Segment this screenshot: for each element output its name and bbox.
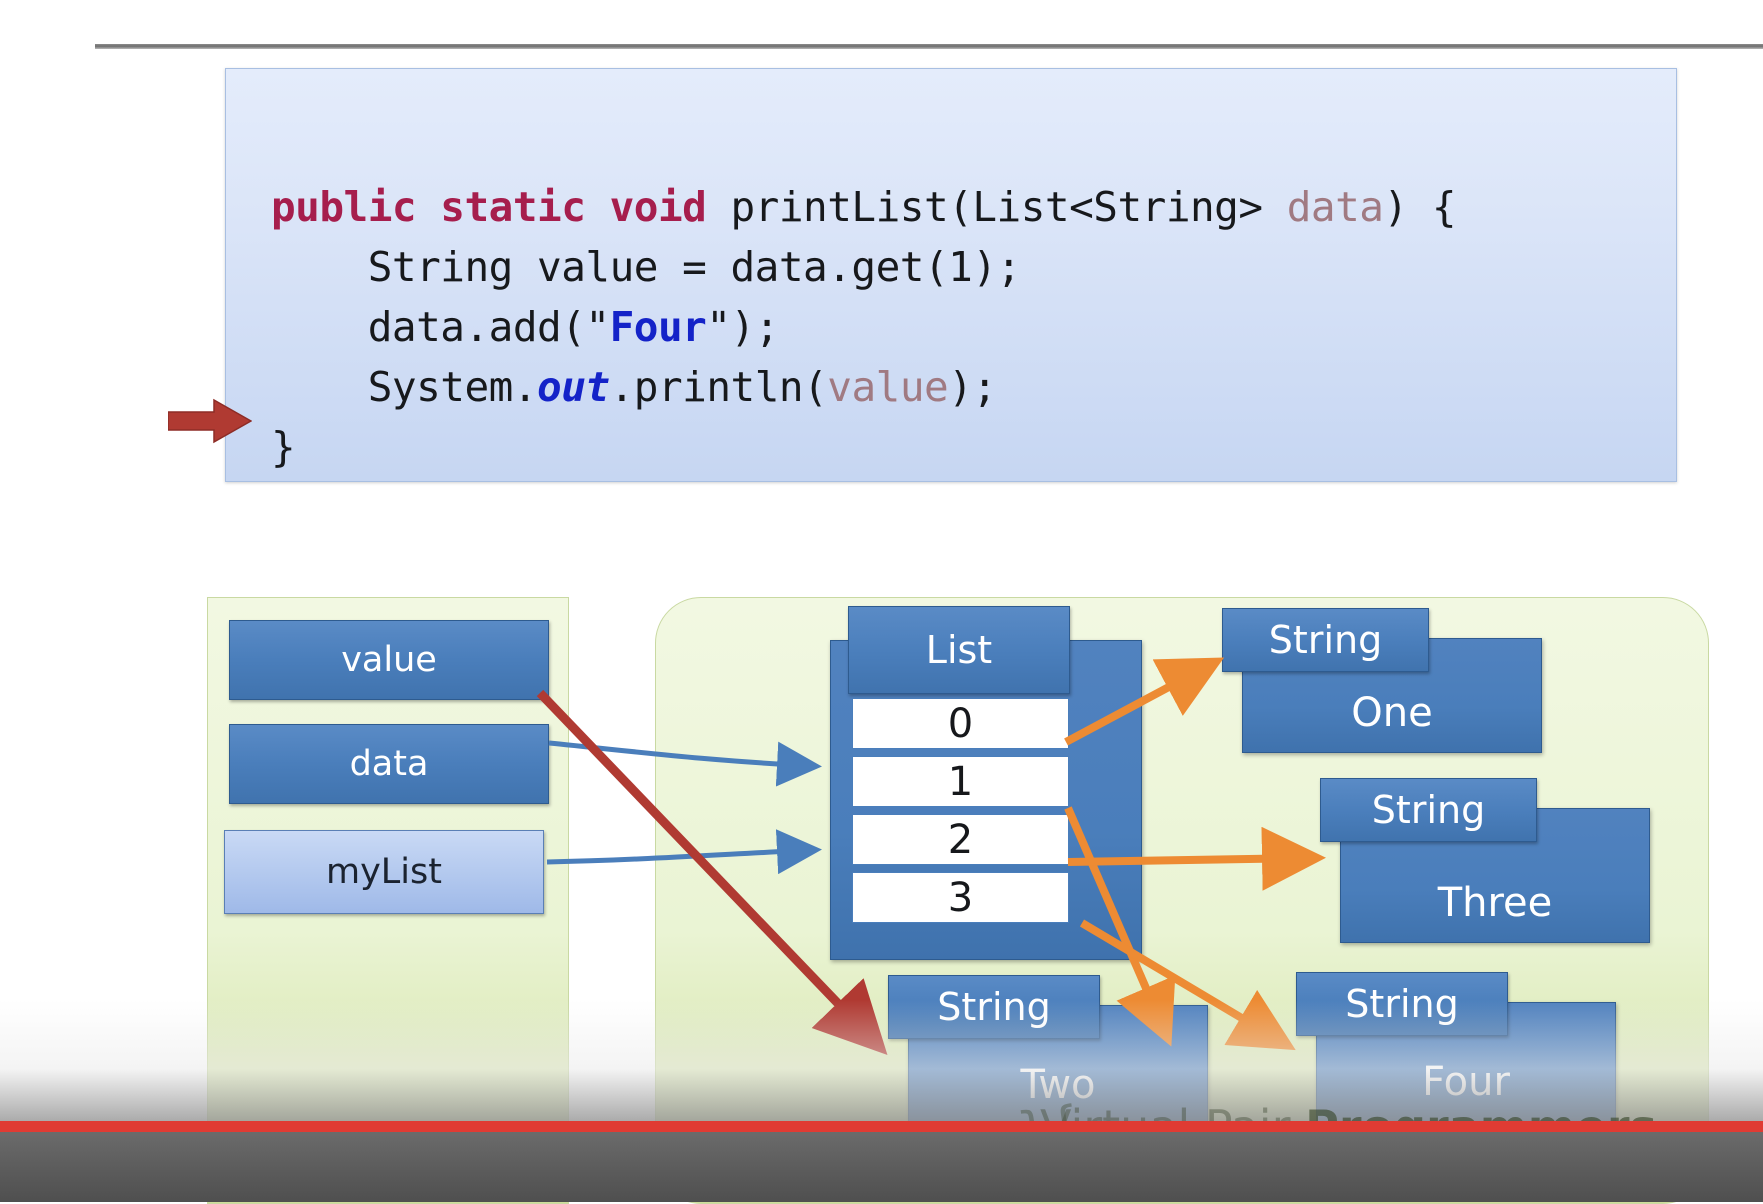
list-object-type-label: List [848,606,1070,694]
code-token: Four [610,303,707,351]
code-listing: public static void printList(List<String… [271,177,1456,477]
execution-pointer-arrow-icon [168,398,252,444]
stack-frame-data[interactable]: data [229,724,549,804]
code-token: ) { [1383,183,1456,231]
heap-object-list[interactable]: List 0 1 2 3 [830,606,1140,958]
code-panel: public static void printList(List<String… [225,68,1677,482]
code-line-3: System.out.println(value); [271,357,1456,417]
list-slot-1-index: 1 [948,759,973,805]
code-token: System. [271,363,537,411]
stack-frame-data-label: data [350,744,429,784]
list-slot-2-index: 2 [948,817,973,863]
code-token: "); [706,303,779,351]
string-four-type-label: String [1296,972,1508,1036]
string-three-value-text: Three [1438,880,1553,926]
string-three-type-text: String [1372,788,1485,832]
string-one-type-label: String [1222,608,1429,672]
stack-frame-value-label: value [341,640,437,680]
code-token: data [1287,183,1384,231]
code-token: String value = data.get(1); [271,243,1021,291]
string-one-type-text: String [1269,618,1382,662]
list-slot-0-index: 0 [948,701,973,747]
list-slot-0[interactable]: 0 [852,698,1069,749]
video-player-controls-bar[interactable] [0,1132,1763,1202]
code-token: printList(List<String> [731,183,1287,231]
video-progress-bar[interactable] [0,1121,1763,1132]
heap-object-string-one[interactable]: One String [1222,608,1542,753]
list-slot-1[interactable]: 1 [852,756,1069,807]
code-token: public static void [271,183,731,231]
list-slot-3[interactable]: 3 [852,872,1069,923]
code-line-4: } [271,417,1456,477]
string-two-type-text: String [937,985,1050,1029]
list-slot-3-index: 3 [948,875,973,921]
stack-frame-mylist[interactable]: myList [224,830,544,914]
stack-frame-mylist-label: myList [326,852,442,892]
code-token: ); [948,363,996,411]
string-four-type-text: String [1345,982,1458,1026]
heap-object-string-three[interactable]: Three String [1320,778,1650,946]
string-one-value-text: One [1351,690,1432,736]
code-line-2: data.add("Four"); [271,297,1456,357]
slide-title-divider [95,44,1763,49]
code-line-0: public static void printList(List<String… [271,177,1456,237]
code-line-1: String value = data.get(1); [271,237,1456,297]
string-four-value-text: Four [1422,1059,1510,1105]
list-type-text: List [926,628,992,672]
code-token: .println( [610,363,828,411]
list-slot-2[interactable]: 2 [852,814,1069,865]
code-token: out [537,363,610,411]
code-token: data.add(" [271,303,610,351]
stack-frame-value[interactable]: value [229,620,549,700]
string-two-type-label: String [888,975,1100,1039]
code-token: value [827,363,948,411]
code-token: } [271,423,295,471]
string-three-type-label: String [1320,778,1537,842]
